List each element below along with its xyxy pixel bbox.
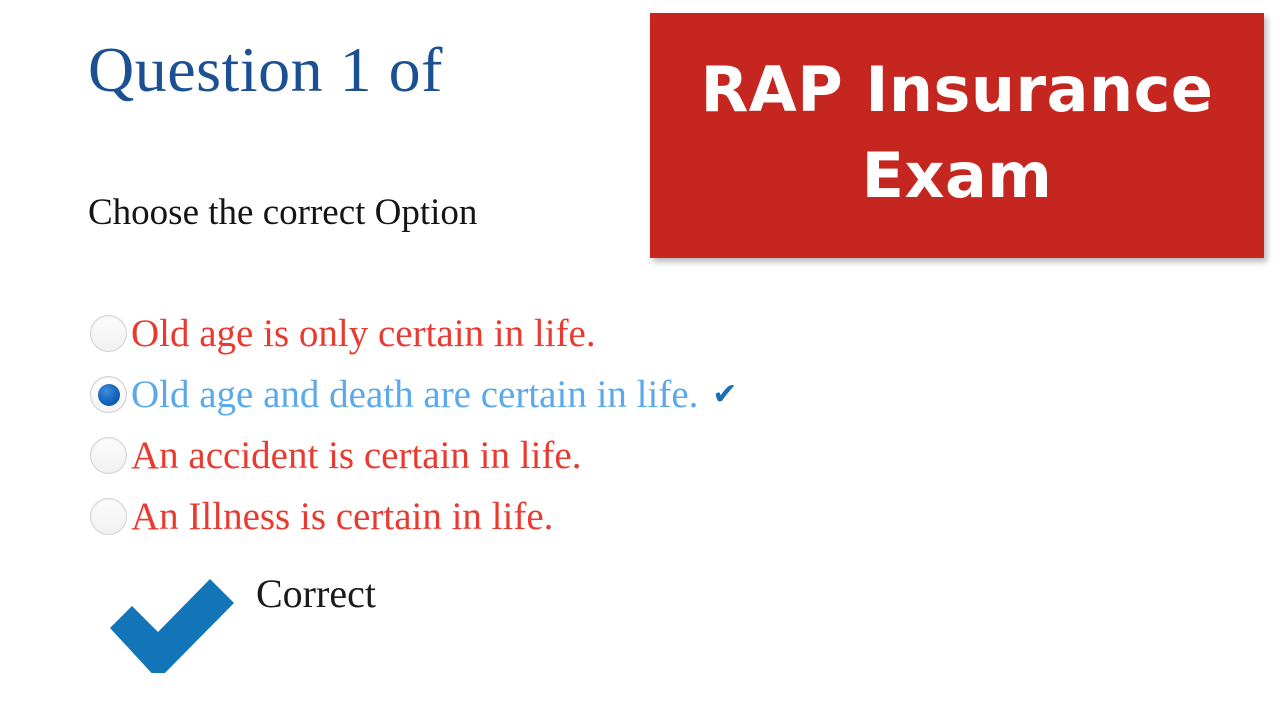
feedback-label: Correct bbox=[256, 571, 376, 617]
radio-dot-icon bbox=[98, 384, 120, 406]
question-prompt: Choose the correct Option bbox=[88, 190, 477, 236]
radio-button-option-1[interactable] bbox=[90, 315, 127, 352]
option-label-2[interactable]: Old age and death are certain in life. bbox=[131, 373, 698, 417]
radio-button-option-2[interactable] bbox=[90, 376, 127, 413]
banner-line-1: RAP Insurance bbox=[701, 47, 1214, 133]
radio-button-option-3[interactable] bbox=[90, 437, 127, 474]
option-row-3[interactable]: An accident is certain in life. bbox=[90, 425, 990, 486]
answer-options-list: Old age is only certain in life. Old age… bbox=[90, 303, 990, 547]
option-label-4[interactable]: An Illness is certain in life. bbox=[131, 495, 553, 539]
answer-feedback: Correct bbox=[110, 565, 530, 675]
watermark-banner: RAP Insurance Exam bbox=[650, 13, 1264, 258]
option-row-2[interactable]: Old age and death are certain in life. ✔ bbox=[90, 364, 990, 425]
banner-line-2: Exam bbox=[862, 133, 1053, 219]
option-row-4[interactable]: An Illness is certain in life. bbox=[90, 486, 990, 547]
radio-button-option-4[interactable] bbox=[90, 498, 127, 535]
option-label-3[interactable]: An accident is certain in life. bbox=[131, 434, 581, 478]
page-title: Question 1 of bbox=[88, 34, 443, 106]
big-check-icon bbox=[110, 573, 235, 673]
option-label-1[interactable]: Old age is only certain in life. bbox=[131, 312, 596, 356]
quiz-screen: Question 1 of Choose the correct Option … bbox=[0, 0, 1280, 720]
option-row-1[interactable]: Old age is only certain in life. bbox=[90, 303, 990, 364]
option-check-icon-2: ✔ bbox=[712, 380, 737, 410]
